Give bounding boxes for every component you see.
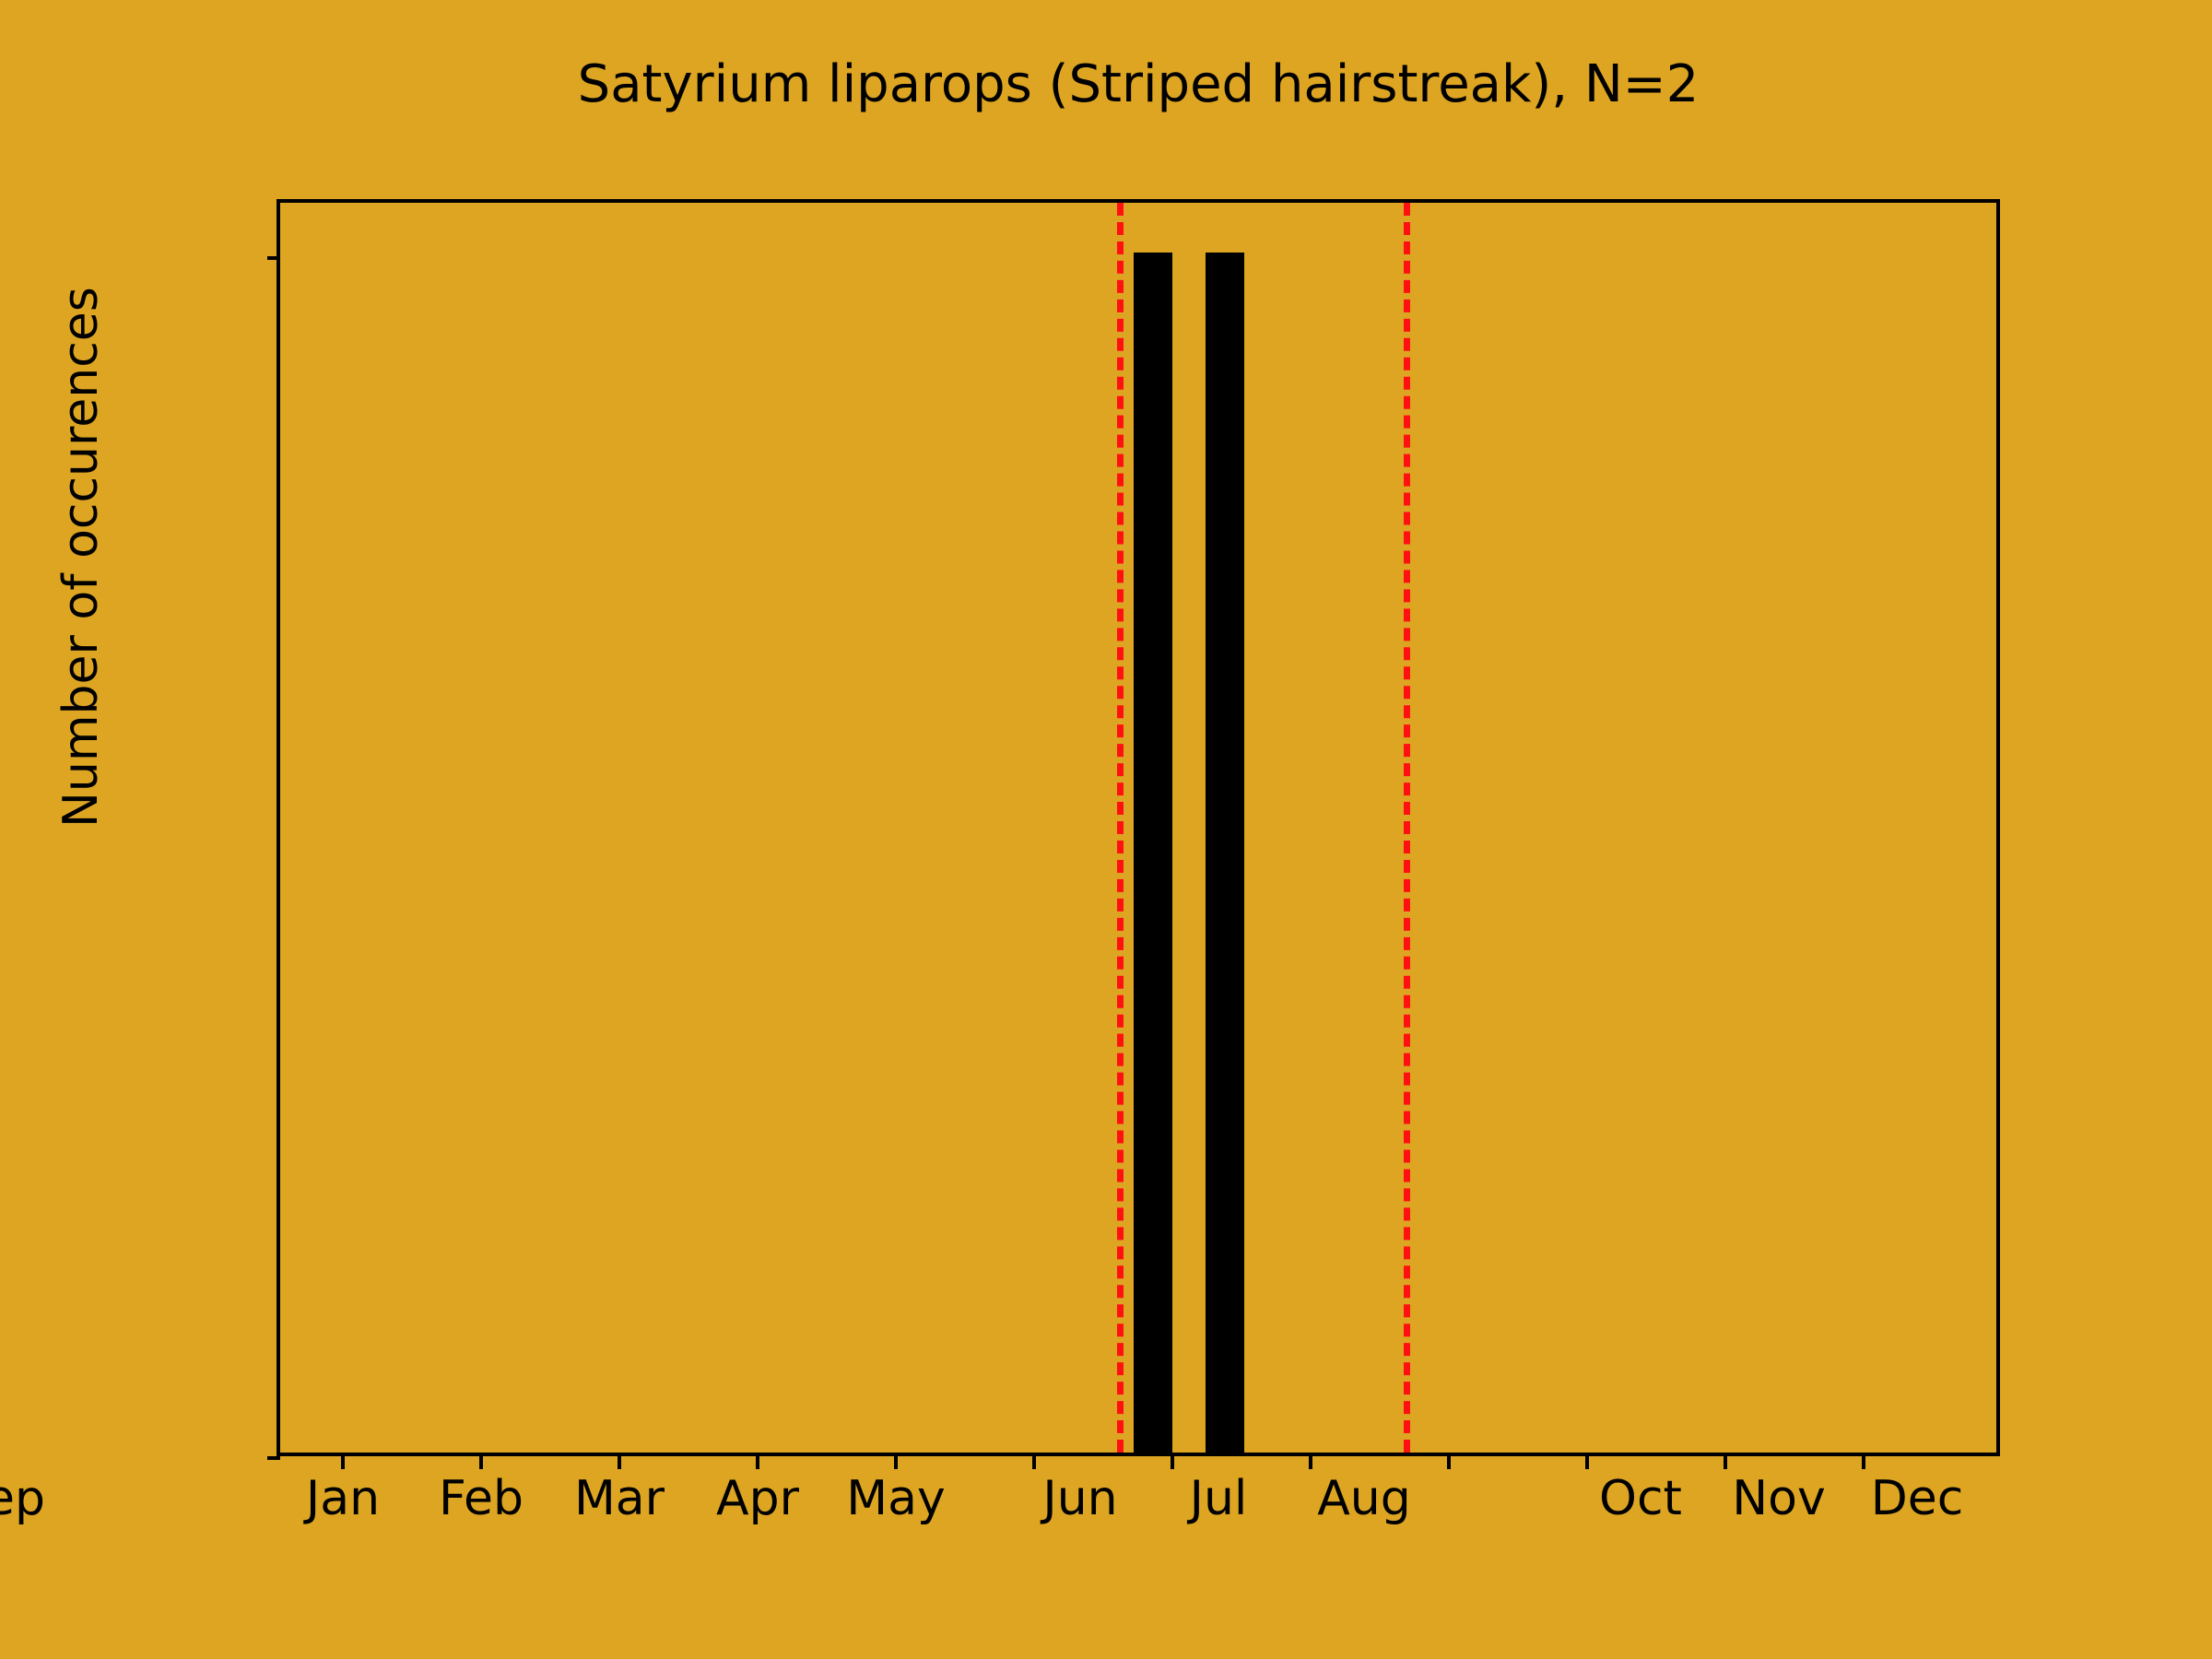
- x-tick-mark-jun: [1032, 1456, 1036, 1469]
- x-tick-mark-feb: [479, 1456, 483, 1469]
- x-tick-mark-dec: [1862, 1456, 1865, 1469]
- x-tick-label-jul: Jul: [1190, 1475, 1248, 1523]
- x-tick-label-mar: Mar: [574, 1475, 665, 1523]
- x-tick-label-jan: Jan: [306, 1475, 380, 1523]
- x-tick-mark-nov: [1724, 1456, 1727, 1469]
- x-tick-mark-may: [894, 1456, 898, 1469]
- plot-area: [276, 199, 2000, 1456]
- x-tick-mark-sep: [1447, 1456, 1451, 1469]
- bar-jun: [1134, 253, 1172, 1453]
- x-tick-label-apr: Apr: [716, 1475, 799, 1523]
- chart-figure: Satyrium liparops (Striped hairstreak), …: [0, 0, 2212, 1659]
- y-tick-mark-0: [267, 1456, 280, 1460]
- x-tick-label-jun: Jun: [1042, 1475, 1117, 1523]
- x-tick-label-may: May: [846, 1475, 946, 1523]
- x-tick-label-oct: Oct: [1599, 1475, 1682, 1523]
- x-tick-mark-oct: [1585, 1456, 1589, 1469]
- flight-period-start-line: [1117, 203, 1124, 1453]
- x-tick-mark-aug: [1309, 1456, 1312, 1469]
- x-tick-mark-mar: [618, 1456, 621, 1469]
- x-tick-label-nov: Nov: [1732, 1475, 1826, 1523]
- bar-jul: [1206, 253, 1244, 1453]
- plot-inner: [280, 203, 1996, 1453]
- x-tick-label-aug: Aug: [1317, 1475, 1411, 1523]
- x-tick-label-dec: Dec: [1871, 1475, 1964, 1523]
- chart-title: Satyrium liparops (Striped hairstreak), …: [276, 59, 2000, 111]
- y-axis-label: Number of occurences: [57, 287, 105, 828]
- x-tick-label-sep: Sep: [0, 1475, 45, 1523]
- x-tick-label-feb: Feb: [439, 1475, 524, 1523]
- flight-period-end-line: [1404, 203, 1410, 1453]
- x-tick-mark-jul: [1171, 1456, 1174, 1469]
- x-tick-mark-apr: [756, 1456, 759, 1469]
- y-tick-mark-1: [267, 256, 280, 260]
- x-tick-mark-jan: [341, 1456, 345, 1469]
